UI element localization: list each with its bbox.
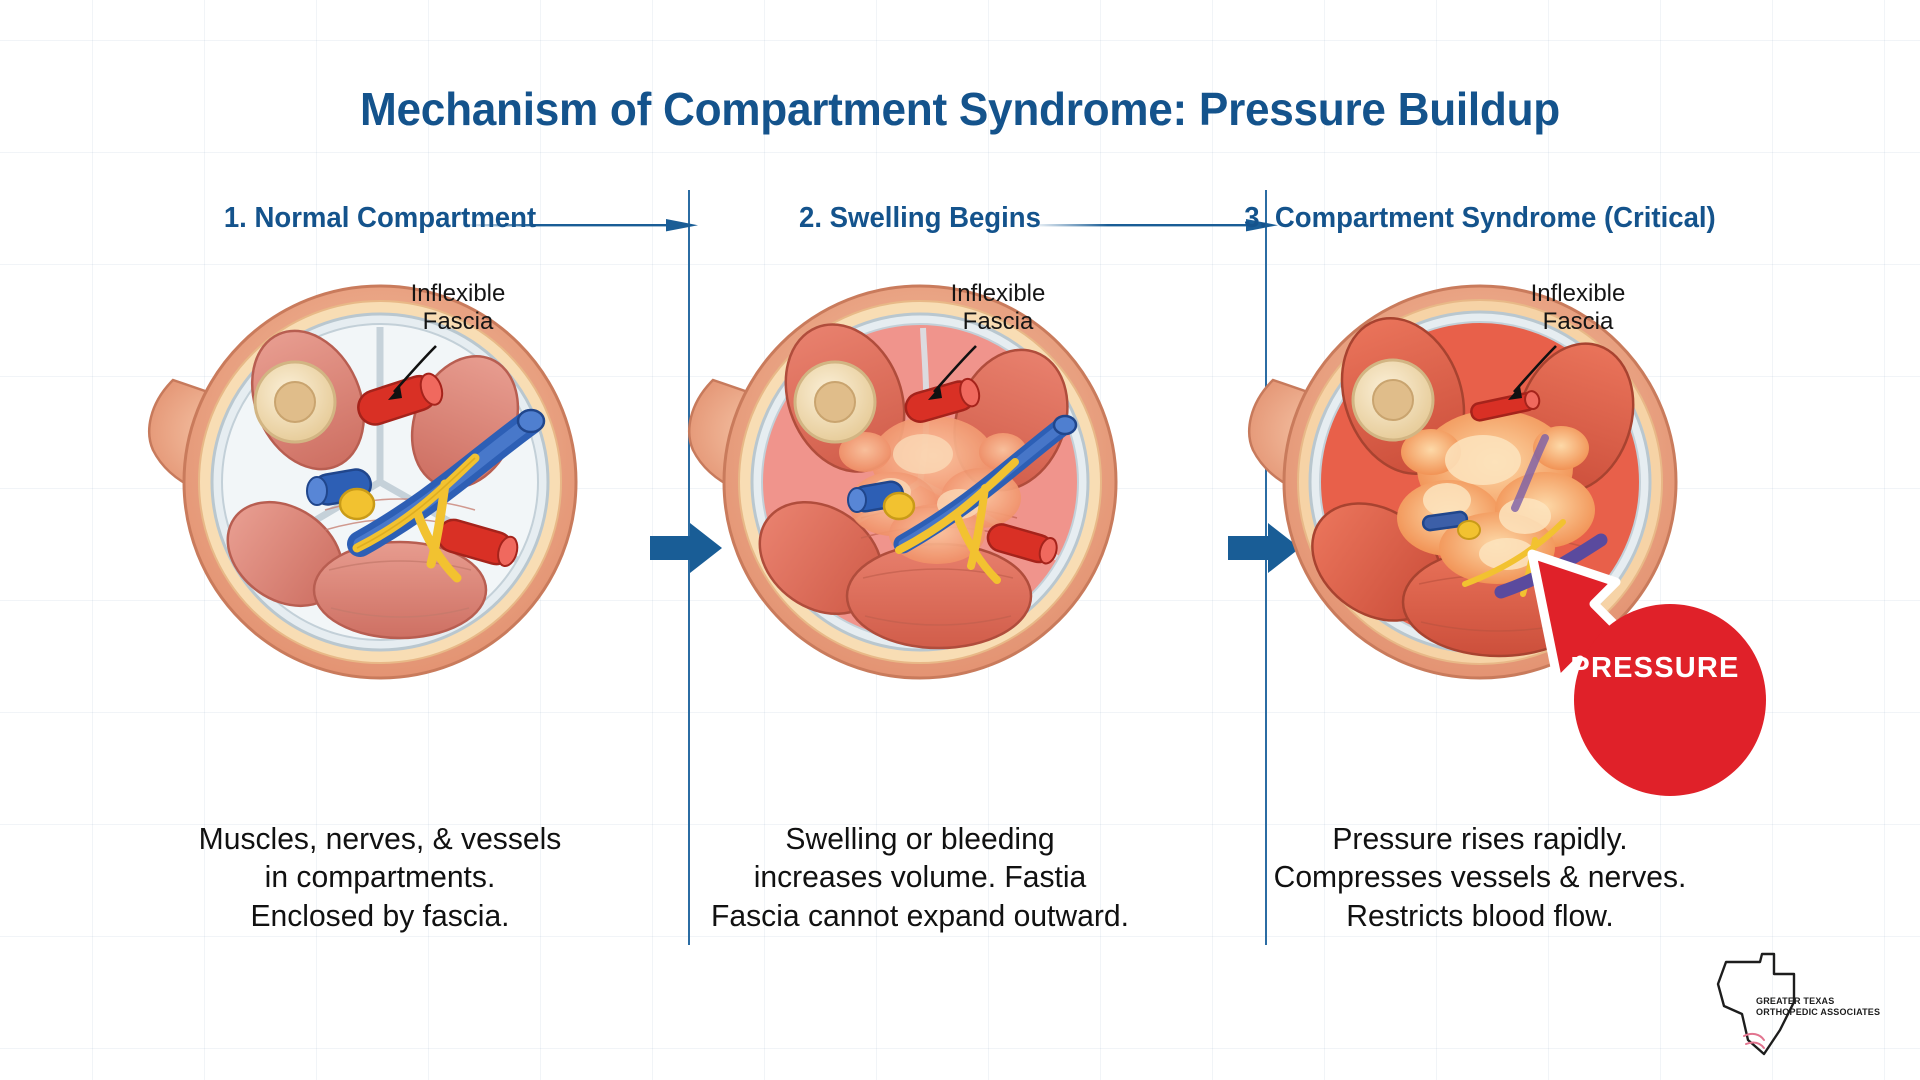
- panel-2-header: 2. Swelling Begins: [673, 202, 1167, 236]
- logo-line-1: GREATER TEXAS: [1756, 996, 1906, 1006]
- panel-3-fascia-label: Inflexible Fascia: [1488, 280, 1668, 337]
- panel-1-fascia-label: Inflexible Fascia: [368, 280, 548, 337]
- panel-2-fascia-pointer-icon: [918, 340, 988, 410]
- panel-1-fascia-pointer-icon: [378, 340, 448, 410]
- panel-1-caption: Muscles, nerves, & vessels in compartmen…: [128, 820, 632, 935]
- panel-2-caption: Swelling or bleeding increases volume. F…: [668, 820, 1172, 935]
- company-logo: GREATER TEXAS ORTHOPEDIC ASSOCIATES: [1708, 944, 1898, 1064]
- infographic-canvas: Mechanism of Compartment Syndrome: Press…: [0, 0, 1920, 1080]
- panel-1: 1. Normal Compartment: [120, 0, 640, 1080]
- logo-line-2: ORTHOPEDIC ASSOCIATES: [1756, 1007, 1906, 1017]
- panel-2-fascia-label: Inflexible Fascia: [908, 280, 1088, 337]
- panel-3-fascia-pointer-icon: [1498, 340, 1568, 410]
- pressure-badge-label: PRESSURE: [1520, 652, 1790, 685]
- panel-3-caption: Pressure rises rapidly. Compresses vesse…: [1208, 820, 1751, 935]
- pressure-badge: PRESSURE: [1520, 528, 1790, 798]
- panel-2: 2. Swelling Begins: [660, 0, 1180, 1080]
- panel-3-header: 3. Compartment Syndrome (Critical): [1214, 202, 1746, 236]
- panel-1-header: 1. Normal Compartment: [133, 202, 627, 236]
